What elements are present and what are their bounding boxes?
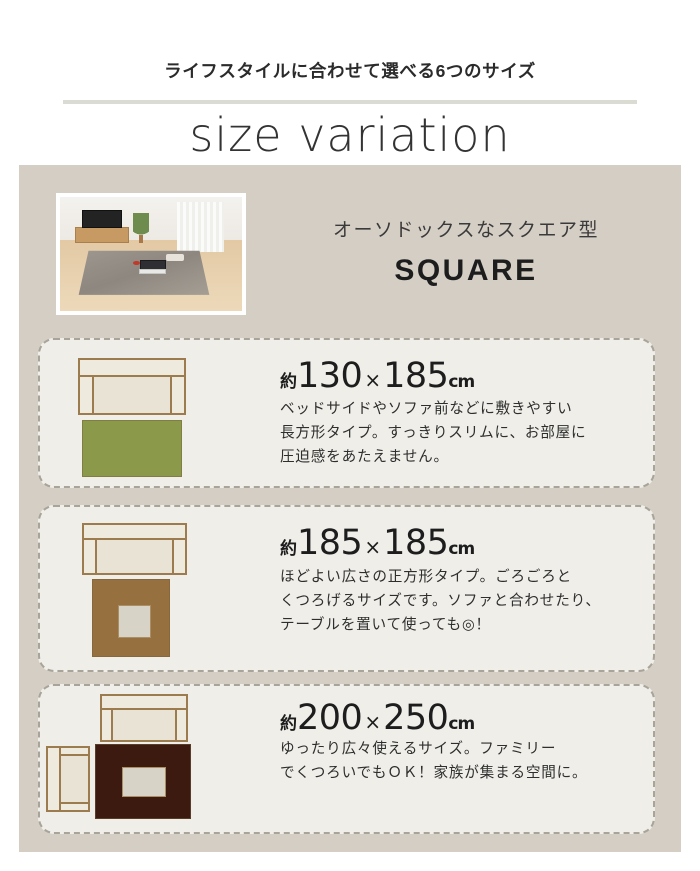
size-depth: 250 [383,698,448,738]
sofa-backrest [84,525,185,540]
sofa-backrest [102,696,186,710]
room-photo-image [60,197,242,311]
square-label-jp: オーソドックスなスクエア型 [256,215,676,242]
sofa-icon [78,358,186,415]
photo-tv [82,210,122,228]
size-description: ベッドサイドやソファ前などに敷きやすい 長方形タイプ。すっきりスリムに、お部屋に… [280,397,586,470]
sofa-arm-left [61,748,88,756]
size-approx-prefix: 約 [280,714,297,734]
photo-tv-stand [75,227,130,243]
hero-section: オーソドックスなスクエア型 SQUARE [19,165,681,325]
rug-shape [82,420,182,477]
rug-shape [95,744,191,819]
sofa-arm-left [80,377,94,413]
size-depth: 185 [383,356,448,396]
table-shape [118,605,151,638]
size-variation-panel: オーソドックスなスクエア型 SQUARE 約130×185cm ベッドサイドやソ… [19,165,681,852]
size-multiply-sign: × [362,535,383,559]
size-info: 約130×185cm ベッドサイドやソファ前などに敷きやすい 長方形タイプ。すっ… [270,340,643,486]
photo-plant [133,213,149,243]
size-diagram [40,686,270,832]
photo-cushion [166,254,184,261]
sofa-arm-right [175,710,186,740]
room-photo [56,193,246,315]
size-dimension: 約200×250cm [280,698,474,738]
square-label-en: SQUARE [256,254,676,288]
size-multiply-sign: × [362,710,383,734]
sofa-arm-right [172,540,185,573]
size-depth: 185 [383,523,448,563]
sofa-arm-right [61,802,88,810]
size-width: 200 [297,698,362,738]
size-info: 約185×185cm ほどよい広さの正方形タイプ。ごろごろと くつろげるサイズで… [270,507,643,670]
sofa-backrest [48,748,61,810]
header-divider [63,100,637,104]
rug-shape [92,579,170,657]
size-width: 185 [297,523,362,563]
sofa-arm-left [102,710,113,740]
page-title: size variation [0,108,700,162]
size-card[interactable]: 約185×185cm ほどよい広さの正方形タイプ。ごろごろと くつろげるサイズで… [38,505,655,672]
sofa-backrest [80,360,184,377]
sofa-arm-right [170,377,184,413]
size-description: ゆったり広々使えるサイズ。ファミリー でくつろいでもＯＫ！家族が集まる空間に。 [280,737,587,785]
size-diagram [40,340,270,486]
sofa-icon [82,523,187,575]
sofa-arm-left [84,540,97,573]
photo-laptop [140,260,165,271]
size-approx-prefix: 約 [280,372,297,392]
size-card[interactable]: 約130×185cm ベッドサイドやソファ前などに敷きやすい 長方形タイプ。すっ… [38,338,655,488]
size-approx-prefix: 約 [280,539,297,559]
size-multiply-sign: × [362,368,383,392]
photo-curtain [177,202,224,252]
header-subtitle: ライフスタイルに合わせて選べる6つのサイズ [0,58,700,83]
square-label-block: オーソドックスなスクエア型 SQUARE [256,215,676,288]
size-info: 約200×250cm ゆったり広々使えるサイズ。ファミリー でくつろいでもＯＫ！… [270,686,643,832]
size-width: 130 [297,356,362,396]
sofa-icon [100,694,188,742]
size-unit: cm [448,714,474,734]
sofa-icon-secondary [46,746,90,812]
size-unit: cm [448,372,474,392]
page-root: ライフスタイルに合わせて選べる6つのサイズ size variation [0,0,700,871]
size-card[interactable]: 約200×250cm ゆったり広々使えるサイズ。ファミリー でくつろいでもＯＫ！… [38,684,655,834]
size-description: ほどよい広さの正方形タイプ。ごろごろと くつろげるサイズです。ソファと合わせたり… [280,565,601,638]
size-dimension: 約130×185cm [280,356,474,396]
table-shape [122,767,166,797]
size-dimension: 約185×185cm [280,523,474,563]
header: ライフスタイルに合わせて選べる6つのサイズ size variation [0,0,700,165]
size-diagram [40,507,270,670]
size-unit: cm [448,539,474,559]
